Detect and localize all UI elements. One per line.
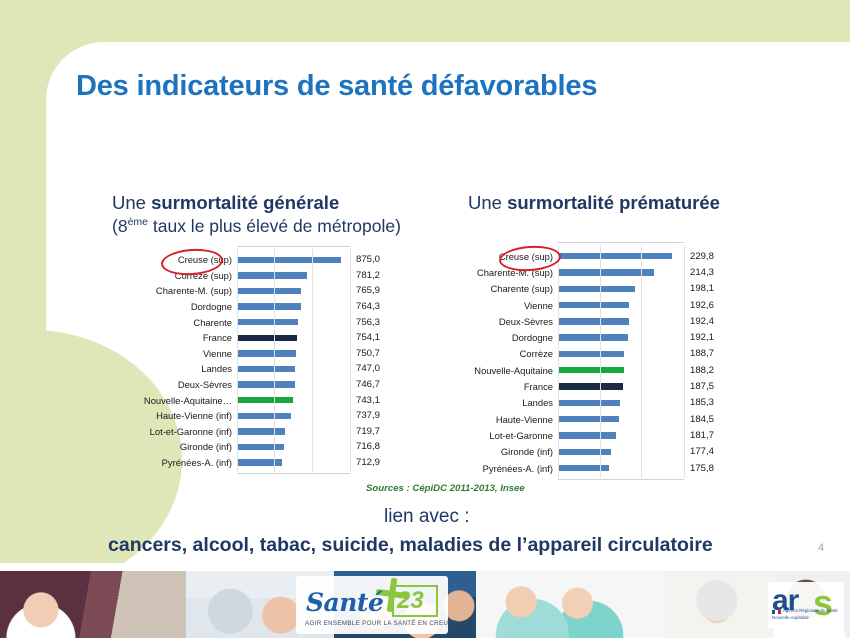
- chart-value-label: 875,0: [350, 254, 384, 265]
- source-note: Sources : CépiDC 2011-2013, Insee: [366, 483, 525, 494]
- logo-sante-number: 23: [397, 587, 424, 615]
- left-sub-sup: ème: [128, 216, 148, 228]
- left-heading-bold: surmortalité générale: [151, 192, 339, 213]
- chart-bar: [237, 397, 293, 403]
- chart-row: Dordogne764,3: [112, 299, 384, 315]
- chart-bar: [237, 428, 285, 434]
- chart-category-label: France: [112, 332, 237, 343]
- chart-bar-track: [237, 314, 350, 330]
- slide: Des indicateurs de santé défavorables Un…: [0, 0, 850, 638]
- chart-value-label: 192,1: [684, 332, 718, 343]
- chart-category-label: Deux-Sèvres: [112, 379, 237, 390]
- chart-bar-track: [558, 460, 684, 476]
- chart-bar-track: [237, 455, 350, 471]
- french-flag-icon: [772, 610, 781, 614]
- chart-bar: [558, 253, 672, 259]
- chart-category-label: Haute-Vienne (inf): [112, 410, 237, 421]
- decor-bottom-white: [0, 563, 850, 571]
- chart-bar: [558, 383, 623, 389]
- chart-bar: [237, 257, 341, 263]
- chart-category-label: Nouvelle-Aquitaine: [448, 365, 558, 376]
- chart-row: Landes747,0: [112, 361, 384, 377]
- chart-row: Gironde (inf)716,8: [112, 439, 384, 455]
- chart-category-label: Gironde (inf): [448, 446, 558, 457]
- chart-bar-track: [237, 330, 350, 346]
- chart-bar-track: [237, 439, 350, 455]
- chart-value-label: 743,1: [350, 395, 384, 406]
- chart-value-label: 750,7: [350, 348, 384, 359]
- chart-row: Landes185,3: [448, 395, 718, 411]
- chart-row: Corrèze188,7: [448, 346, 718, 362]
- chart-category-label: Corrèze: [448, 348, 558, 359]
- chart-category-label: Dordogne: [112, 301, 237, 312]
- chart-bar: [558, 302, 629, 308]
- chart-row: Nouvelle-Aquitaine…743,1: [112, 392, 384, 408]
- chart-value-label: 737,9: [350, 410, 384, 421]
- chart-category-label: Haute-Vienne: [448, 414, 558, 425]
- chart-category-label: Creuse (sup): [112, 254, 237, 265]
- chart-bar-track: [558, 329, 684, 345]
- chart-bar: [558, 416, 619, 422]
- chart-category-label: Vienne: [112, 348, 237, 359]
- chart-value-label: 765,9: [350, 285, 384, 296]
- chart-value-label: 181,7: [684, 430, 718, 441]
- logo-ars: ar s Agence Régionale de Santé Nouvelle-…: [768, 582, 844, 628]
- chart-bar-track: [558, 248, 684, 264]
- chart-row: France754,1: [112, 330, 384, 346]
- decor-top-band: [0, 0, 850, 42]
- chart-value-label: 185,3: [684, 397, 718, 408]
- chart-value-label: 177,4: [684, 446, 718, 457]
- chart-bar: [237, 350, 296, 356]
- chart-row: Haute-Vienne (inf)737,9: [112, 408, 384, 424]
- chart-surmortalite-prematuree: Creuse (sup)229,8Charente-M. (sup)214,3C…: [448, 248, 718, 476]
- chart-row: Pyrénées-A. (inf)175,8: [448, 460, 718, 476]
- chart-row: Haute-Vienne184,5: [448, 411, 718, 427]
- chart-row: Lot-et-Garonne181,7: [448, 427, 718, 443]
- chart-bar: [558, 367, 624, 373]
- chart-bar: [558, 400, 620, 406]
- left-chart-subheading: (8ème taux le plus élevé de métropole): [112, 216, 401, 237]
- chart-row: Vienne750,7: [112, 346, 384, 362]
- chart-value-label: 187,5: [684, 381, 718, 392]
- chart-category-label: Charente-M. (sup): [112, 285, 237, 296]
- chart-category-label: France: [448, 381, 558, 392]
- chart-bar-track: [558, 346, 684, 362]
- chart-bar-track: [237, 424, 350, 440]
- chart-category-label: Nouvelle-Aquitaine…: [112, 395, 237, 406]
- chart-value-label: 188,2: [684, 365, 718, 376]
- chart-category-label: Lot-et-Garonne: [448, 430, 558, 441]
- chart-bar-track: [558, 444, 684, 460]
- page-title: Des indicateurs de santé défavorables: [76, 70, 597, 103]
- photo-nurse-patient: [0, 571, 186, 638]
- chart-row: Lot-et-Garonne (inf)719,7: [112, 424, 384, 440]
- chart-bar-track: [558, 411, 684, 427]
- chart-bar-track: [237, 299, 350, 315]
- chart-category-label: Pyrénées-A. (inf): [448, 463, 558, 474]
- chart-category-label: Gironde (inf): [112, 441, 237, 452]
- chart-bar-track: [237, 377, 350, 393]
- chart-bar: [558, 286, 635, 292]
- chart-row: Dordogne192,1: [448, 329, 718, 345]
- chart-bar: [558, 269, 654, 275]
- chart-bar-track: [237, 346, 350, 362]
- chart-value-label: 175,8: [684, 463, 718, 474]
- chart-value-label: 192,4: [684, 316, 718, 327]
- chart-bar-track: [558, 378, 684, 394]
- chart-category-label: Charente-M. (sup): [448, 267, 558, 278]
- chart-value-label: 781,2: [350, 270, 384, 281]
- chart-bar-track: [237, 408, 350, 424]
- chart-row: Charente-M. (sup)765,9: [112, 283, 384, 299]
- chart-category-label: Charente: [112, 317, 237, 328]
- photo-elderly-woman: [664, 571, 774, 638]
- chart-category-label: Charente (sup): [448, 283, 558, 294]
- chart-value-label: 198,1: [684, 283, 718, 294]
- chart-bar-track: [558, 313, 684, 329]
- chart-bar: [237, 381, 295, 387]
- left-chart-heading: Une surmortalité générale: [112, 192, 339, 214]
- logo-ars-s: s: [813, 582, 833, 624]
- chart-bar: [237, 459, 282, 465]
- chart-category-label: Landes: [448, 397, 558, 408]
- chart-row: Charente-M. (sup)214,3: [448, 264, 718, 280]
- chart-value-label: 184,5: [684, 414, 718, 425]
- chart-value-label: 754,1: [350, 332, 384, 343]
- left-heading-prefix: Une: [112, 192, 151, 213]
- chart-row: Gironde (inf)177,4: [448, 444, 718, 460]
- left-sub-b: taux le plus élevé de métropole): [148, 216, 401, 236]
- chart-bar: [237, 444, 284, 450]
- chart-bar: [237, 288, 301, 294]
- chart-row: Creuse (sup)875,0: [112, 252, 384, 268]
- chart-category-label: Lot-et-Garonne (inf): [112, 426, 237, 437]
- logo-ars-sub1: Agence Régionale de Santé: [783, 608, 838, 613]
- chart-bar-track: [558, 281, 684, 297]
- logo-sante-word: Santé: [306, 588, 383, 617]
- chart-bar: [558, 318, 629, 324]
- chart-value-label: 214,3: [684, 267, 718, 278]
- chart-value-label: 756,3: [350, 317, 384, 328]
- chart-bar: [237, 303, 301, 309]
- chart-bar-track: [237, 361, 350, 377]
- chart-category-label: Creuse (sup): [448, 251, 558, 262]
- causes-list: cancers, alcool, tabac, suicide, maladie…: [108, 534, 713, 557]
- right-heading-bold: surmortalité prématurée: [507, 192, 720, 213]
- chart-category-label: Deux-Sèvres: [448, 316, 558, 327]
- chart-bar: [558, 351, 624, 357]
- chart-bar: [237, 413, 291, 419]
- chart-value-label: 716,8: [350, 441, 384, 452]
- chart-row: Charente756,3: [112, 314, 384, 330]
- chart-bar-track: [558, 297, 684, 313]
- logo-ars-sub2: Nouvelle-Aquitaine: [772, 615, 809, 620]
- chart-bar-track: [237, 283, 350, 299]
- chart-value-label: 746,7: [350, 379, 384, 390]
- chart-row: Deux-Sèvres746,7: [112, 377, 384, 393]
- slide-number: 4: [818, 542, 824, 554]
- lien-avec-label: lien avec :: [384, 506, 470, 528]
- chart-bar-track: [558, 427, 684, 443]
- chart-value-label: 712,9: [350, 457, 384, 468]
- chart-row: Pyrénées-A. (inf)712,9: [112, 455, 384, 471]
- chart-value-label: 747,0: [350, 363, 384, 374]
- chart-bar: [558, 449, 611, 455]
- photo-family-cooking: [476, 571, 664, 638]
- chart-category-label: Dordogne: [448, 332, 558, 343]
- chart-category-label: Landes: [112, 363, 237, 374]
- chart-row: Nouvelle-Aquitaine188,2: [448, 362, 718, 378]
- logo-sante-tagline: AGIR ENSEMBLE POUR LA SANTÉ EN CREUSE: [305, 620, 457, 627]
- chart-bar-track: [558, 362, 684, 378]
- chart-bar-track: [237, 392, 350, 408]
- right-heading-prefix: Une: [468, 192, 507, 213]
- chart-row: France187,5: [448, 378, 718, 394]
- chart-row: Vienne192,6: [448, 297, 718, 313]
- chart-value-label: 229,8: [684, 251, 718, 262]
- chart-bar: [237, 366, 295, 372]
- logo-sante-23: Santé 23 AGIR ENSEMBLE POUR LA SANTÉ EN …: [296, 576, 448, 634]
- chart-row: Charente (sup)198,1: [448, 281, 718, 297]
- chart-value-label: 192,6: [684, 300, 718, 311]
- chart-bar: [558, 432, 616, 438]
- chart-row: Corrèze (sup)781,2: [112, 268, 384, 284]
- chart-value-label: 188,7: [684, 348, 718, 359]
- chart-bar-track: [558, 395, 684, 411]
- chart-category-label: Vienne: [448, 300, 558, 311]
- chart-bar: [237, 319, 298, 325]
- right-chart-heading: Une surmortalité prématurée: [468, 192, 720, 214]
- chart-surmortalite-generale: Creuse (sup)875,0Corrèze (sup)781,2Chare…: [112, 252, 384, 470]
- chart-value-label: 719,7: [350, 426, 384, 437]
- chart-row: Creuse (sup)229,8: [448, 248, 718, 264]
- chart-bar: [558, 465, 609, 471]
- chart-bar: [237, 272, 307, 278]
- chart-bar: [237, 335, 297, 341]
- chart-bar-track: [558, 264, 684, 280]
- chart-value-label: 764,3: [350, 301, 384, 312]
- chart-bar: [558, 334, 628, 340]
- chart-row: Deux-Sèvres192,4: [448, 313, 718, 329]
- chart-category-label: Corrèze (sup): [112, 270, 237, 281]
- left-sub-a: (8: [112, 216, 128, 236]
- chart-bar-track: [237, 252, 350, 268]
- chart-bar-track: [237, 268, 350, 284]
- chart-category-label: Pyrénées-A. (inf): [112, 457, 237, 468]
